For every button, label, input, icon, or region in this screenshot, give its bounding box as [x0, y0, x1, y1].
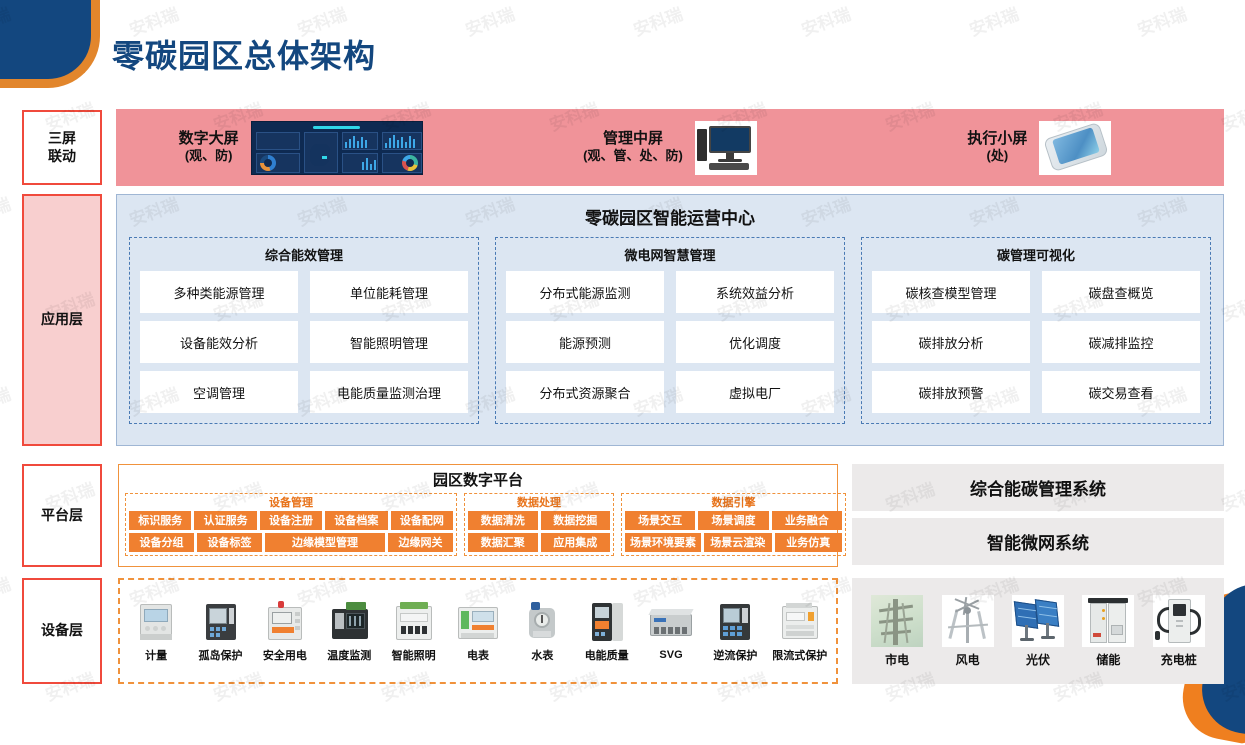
watermark-text: 安科瑞	[629, 0, 685, 41]
platform-tag[interactable]: 设备标签	[197, 533, 262, 552]
source-label: 市电	[885, 651, 909, 668]
platform-group-data-processing: 数据处理 数据清洗 数据挖掘 数据汇聚 应用集成	[464, 493, 614, 556]
layer-label-device: 设备层	[22, 578, 102, 684]
application-item[interactable]: 多种类能源管理	[140, 271, 298, 313]
platform-group-title: 设备管理	[129, 496, 453, 511]
application-item[interactable]: 分布式资源聚合	[506, 371, 664, 413]
device-label: 电能质量	[585, 647, 629, 663]
power-quality-device-icon	[584, 600, 630, 644]
application-item[interactable]: 单位能耗管理	[310, 271, 468, 313]
application-item[interactable]: 分布式能源监测	[506, 271, 664, 313]
device-item-svg: SVG	[639, 602, 703, 661]
application-item[interactable]: 碳排放预警	[872, 371, 1030, 413]
layer-label-application: 应用层	[22, 194, 102, 446]
platform-tag-row: 数据清洗 数据挖掘	[468, 511, 610, 530]
wind-turbine-icon	[942, 595, 994, 647]
application-group-carbon-visualization: 碳管理可视化 碳核查模型管理 碳盘查概览 碳排放分析 碳减排监控 碳排放预警 碳…	[861, 237, 1211, 424]
layer-label-platform: 平台层	[22, 464, 102, 567]
screen-middle-title: 管理中屏	[583, 130, 683, 149]
platform-group-data-engine: 数据引擎 场景交互 场景调度 业务融合 场景环境要素 场景云渲染 业务仿真	[621, 493, 846, 556]
platform-tag[interactable]: 场景环境要素	[625, 533, 701, 552]
water-meter-icon	[519, 600, 565, 644]
source-label: 充电桩	[1161, 651, 1197, 668]
device-item-temperature-monitor: 温度监测	[317, 600, 381, 663]
solar-panel-icon	[1012, 595, 1064, 647]
platform-tag[interactable]: 场景云渲染	[704, 533, 772, 552]
device-item-smart-lighting: 智能照明	[382, 600, 446, 663]
application-group-title: 综合能效管理	[140, 245, 468, 264]
layer-label-three-screen-line2: 联动	[48, 148, 76, 166]
device-label: 温度监测	[327, 647, 371, 663]
current-limiting-protector-icon	[777, 600, 823, 644]
source-item-storage: 储能	[1082, 595, 1134, 668]
application-item[interactable]: 设备能效分析	[140, 321, 298, 363]
platform-group-title: 数据处理	[468, 496, 610, 511]
platform-tag[interactable]: 业务融合	[772, 511, 842, 530]
device-label: 安全用电	[263, 647, 307, 663]
platform-group-device-management: 设备管理 标识服务 认证服务 设备注册 设备档案 设备配网 设备分组 设备标签 …	[125, 493, 457, 556]
platform-tag-row: 场景交互 场景调度 业务融合	[625, 511, 842, 530]
device-item-power-quality: 电能质量	[575, 600, 639, 663]
three-screen-linkage-band: 数字大屏 (观、防)	[116, 109, 1224, 186]
application-group-title: 碳管理可视化	[872, 245, 1200, 264]
application-center-title: 零碳园区智能运营中心	[117, 204, 1223, 229]
electricity-meter-icon	[455, 600, 501, 644]
electrical-safety-device-icon	[262, 600, 308, 644]
platform-layer-panel: 园区数字平台 设备管理 标识服务 认证服务 设备注册 设备档案 设备配网 设备分…	[118, 464, 838, 567]
application-item[interactable]: 智能照明管理	[310, 321, 468, 363]
application-item[interactable]: 碳减排监控	[1042, 321, 1200, 363]
watermark-text: 安科瑞	[797, 0, 853, 41]
protection-relay-icon	[198, 600, 244, 644]
platform-title: 园区数字平台	[119, 469, 837, 490]
watermark-text: 安科瑞	[1133, 0, 1189, 41]
platform-tag[interactable]: 数据挖掘	[541, 511, 611, 530]
platform-tag[interactable]: 业务仿真	[775, 533, 843, 552]
device-label: 电表	[467, 647, 489, 663]
platform-tag[interactable]: 标识服务	[129, 511, 191, 530]
screen-item-big: 数字大屏 (观、防)	[116, 109, 485, 186]
reverse-flow-protection-icon	[712, 600, 758, 644]
device-item-metering: 计量	[124, 600, 188, 663]
platform-tag[interactable]: 设备分组	[129, 533, 194, 552]
application-item[interactable]: 能源预测	[506, 321, 664, 363]
source-label: 光伏	[1026, 651, 1050, 668]
din-rail-meter-icon	[133, 600, 179, 644]
application-item[interactable]: 系统效益分析	[676, 271, 834, 313]
application-item[interactable]: 电能质量监测治理	[310, 371, 468, 413]
layer-label-three-screen-line1: 三屏	[48, 130, 76, 148]
layer-label-three-screen: 三屏 联动	[22, 110, 102, 185]
system-panel-smart-microgrid[interactable]: 智能微网系统	[852, 518, 1224, 565]
watermark-text: 安科瑞	[0, 380, 14, 421]
platform-tag[interactable]: 场景调度	[698, 511, 768, 530]
screen-big-title: 数字大屏	[179, 130, 239, 149]
platform-tag[interactable]: 数据汇聚	[468, 533, 538, 552]
device-item-electrical-safety: 安全用电	[253, 600, 317, 663]
platform-tag-row: 数据汇聚 应用集成	[468, 533, 610, 552]
screen-big-subtitle: (观、防)	[179, 148, 239, 165]
application-group-microgrid: 微电网智慧管理 分布式能源监测 系统效益分析 能源预测 优化调度 分布式资源聚合…	[495, 237, 845, 424]
source-label: 储能	[1096, 651, 1120, 668]
source-item-ev-charger: 充电桩	[1153, 595, 1205, 668]
platform-tag[interactable]: 应用集成	[541, 533, 611, 552]
application-group-title: 微电网智慧管理	[506, 245, 834, 264]
platform-tag[interactable]: 设备档案	[325, 511, 387, 530]
screen-item-small: 执行小屏 (处)	[855, 109, 1224, 186]
smartphone-thumbnail	[1039, 121, 1111, 175]
device-label: 智能照明	[392, 647, 436, 663]
application-item[interactable]: 碳盘查概览	[1042, 271, 1200, 313]
source-item-grid: 市电	[871, 595, 923, 668]
device-item-island-protection: 孤岛保护	[189, 600, 253, 663]
application-item[interactable]: 碳核查模型管理	[872, 271, 1030, 313]
application-layer-panel: 零碳园区智能运营中心 综合能效管理 多种类能源管理 单位能耗管理 设备能效分析 …	[116, 194, 1224, 446]
device-label: SVG	[659, 649, 682, 661]
application-item[interactable]: 碳交易查看	[1042, 371, 1200, 413]
watermark-text: 安科瑞	[0, 570, 14, 611]
screen-item-middle: 管理中屏 (观、管、处、防)	[485, 109, 854, 186]
watermark-text: 安科瑞	[0, 190, 14, 231]
platform-tag[interactable]: 边缘模型管理	[265, 533, 385, 552]
application-item[interactable]: 优化调度	[676, 321, 834, 363]
platform-tag[interactable]: 边缘网关	[388, 533, 453, 552]
application-item[interactable]: 空调管理	[140, 371, 298, 413]
corner-decoration-top-left	[0, 0, 100, 88]
device-label: 孤岛保护	[199, 647, 243, 663]
platform-tag[interactable]: 场景交互	[625, 511, 695, 530]
device-item-electricity-meter: 电表	[446, 600, 510, 663]
device-label: 限流式保护	[772, 647, 827, 663]
device-layer-panel: 计量 孤岛保护 安全用电	[118, 578, 838, 684]
application-item[interactable]: 碳排放分析	[872, 321, 1030, 363]
energy-source-panel: 市电 风电 光伏	[852, 578, 1224, 684]
platform-tag[interactable]: 设备配网	[391, 511, 453, 530]
source-item-wind: 风电	[942, 595, 994, 668]
device-label: 计量	[145, 647, 167, 663]
energy-storage-cabinet-icon	[1082, 595, 1134, 647]
source-item-solar: 光伏	[1012, 595, 1064, 668]
system-panel-energy-carbon[interactable]: 综合能碳管理系统	[852, 464, 1224, 511]
desktop-monitor-thumbnail	[695, 121, 757, 175]
screen-small-subtitle: (处)	[967, 148, 1027, 165]
utility-grid-tower-icon	[871, 595, 923, 647]
page-title: 零碳园区总体架构	[112, 31, 376, 77]
ev-charging-pile-icon	[1153, 595, 1205, 647]
platform-tag-row: 设备分组 设备标签 边缘模型管理 边缘网关	[129, 533, 453, 552]
device-label: 水表	[531, 647, 553, 663]
svg-cabinet-icon	[648, 602, 694, 646]
application-item[interactable]: 虚拟电厂	[676, 371, 834, 413]
platform-tag[interactable]: 认证服务	[194, 511, 256, 530]
dashboard-screen-thumbnail	[251, 121, 423, 175]
screen-middle-subtitle: (观、管、处、防)	[583, 148, 683, 165]
platform-tag[interactable]: 设备注册	[260, 511, 322, 530]
platform-tag-row: 场景环境要素 场景云渲染 业务仿真	[625, 533, 842, 552]
device-item-water-meter: 水表	[510, 600, 574, 663]
temperature-monitor-icon	[326, 600, 372, 644]
platform-tag[interactable]: 数据清洗	[468, 511, 538, 530]
platform-group-title: 数据引擎	[625, 496, 842, 511]
lighting-controller-icon	[391, 600, 437, 644]
platform-tag-row: 标识服务 认证服务 设备注册 设备档案 设备配网	[129, 511, 453, 530]
screen-small-title: 执行小屏	[967, 130, 1027, 149]
application-group-energy-efficiency: 综合能效管理 多种类能源管理 单位能耗管理 设备能效分析 智能照明管理 空调管理…	[129, 237, 479, 424]
device-item-current-limiting-protection: 限流式保护	[768, 600, 832, 663]
watermark-text: 安科瑞	[461, 0, 517, 41]
device-label: 逆流保护	[713, 647, 757, 663]
watermark-text: 安科瑞	[965, 0, 1021, 41]
source-label: 风电	[956, 651, 980, 668]
device-item-reverse-flow-protection: 逆流保护	[703, 600, 767, 663]
